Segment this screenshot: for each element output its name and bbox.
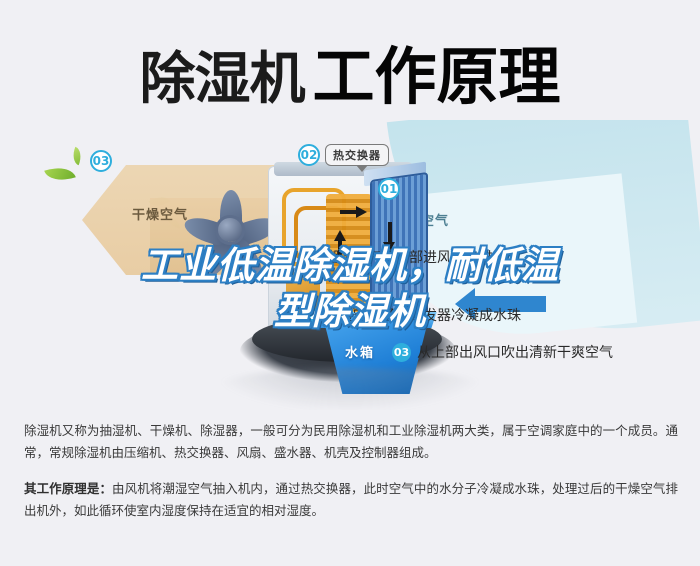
step-sentence-01: 01 潮湿空气从下部进风口中进风	[300, 247, 507, 267]
step-sentence-02-badge: 02	[300, 306, 319, 325]
step-badge-01: 01	[378, 178, 400, 200]
step-sentence-03-badge: 03	[392, 343, 411, 362]
leaf-icon	[44, 162, 76, 186]
step-badge-03: 03	[90, 150, 112, 172]
title-part-2: 工作原理	[312, 40, 560, 113]
paragraph-2-lead: 其工作原理是：	[24, 481, 112, 496]
step-badge-02: 02	[298, 144, 320, 166]
step-sentence-01-text: 潮湿空气从下部进风口中进风	[325, 247, 507, 267]
body-copy: 除湿机又称为抽湿机、干燥机、除湿器，一般可分为民用除湿机和工业除湿机两大类，属于…	[24, 420, 678, 536]
paragraph-2: 其工作原理是：由风机将潮湿空气抽入机内，通过热交换器，此时空气中的水分子冷凝成水…	[24, 478, 678, 522]
step-sentence-02: 02 潮湿空气经过蒸发器冷凝成水珠	[300, 305, 521, 325]
leaf-icon	[69, 147, 84, 166]
heat-exchanger-callout: 热交换器	[325, 144, 389, 166]
illustration-stage: 干燥空气 潮湿空气	[0, 120, 700, 410]
title-part-1: 除湿机	[139, 47, 304, 112]
infographic-page: 除湿机工作原理 干燥空气 潮湿空气	[0, 0, 700, 566]
step-sentence-02-text: 潮湿空气经过蒸发器冷凝成水珠	[325, 305, 521, 325]
step-sentence-01-badge: 01	[300, 248, 319, 267]
step-sentence-03: 03 从上部出风口吹出清新干爽空气	[392, 342, 613, 362]
page-title: 除湿机工作原理	[0, 26, 700, 116]
step-sentence-03-text: 从上部出风口吹出清新干爽空气	[417, 342, 613, 362]
fan-icon	[178, 176, 282, 280]
paragraph-2-text: 由风机将潮湿空气抽入机内，通过热交换器，此时空气中的水分子冷凝成水珠，处理过后的…	[24, 481, 678, 518]
paragraph-1: 除湿机又称为抽湿机、干燥机、除湿器，一般可分为民用除湿机和工业除湿机两大类，属于…	[24, 420, 678, 464]
floor-reflection	[210, 368, 490, 410]
water-tank-label: 水箱	[345, 342, 375, 361]
